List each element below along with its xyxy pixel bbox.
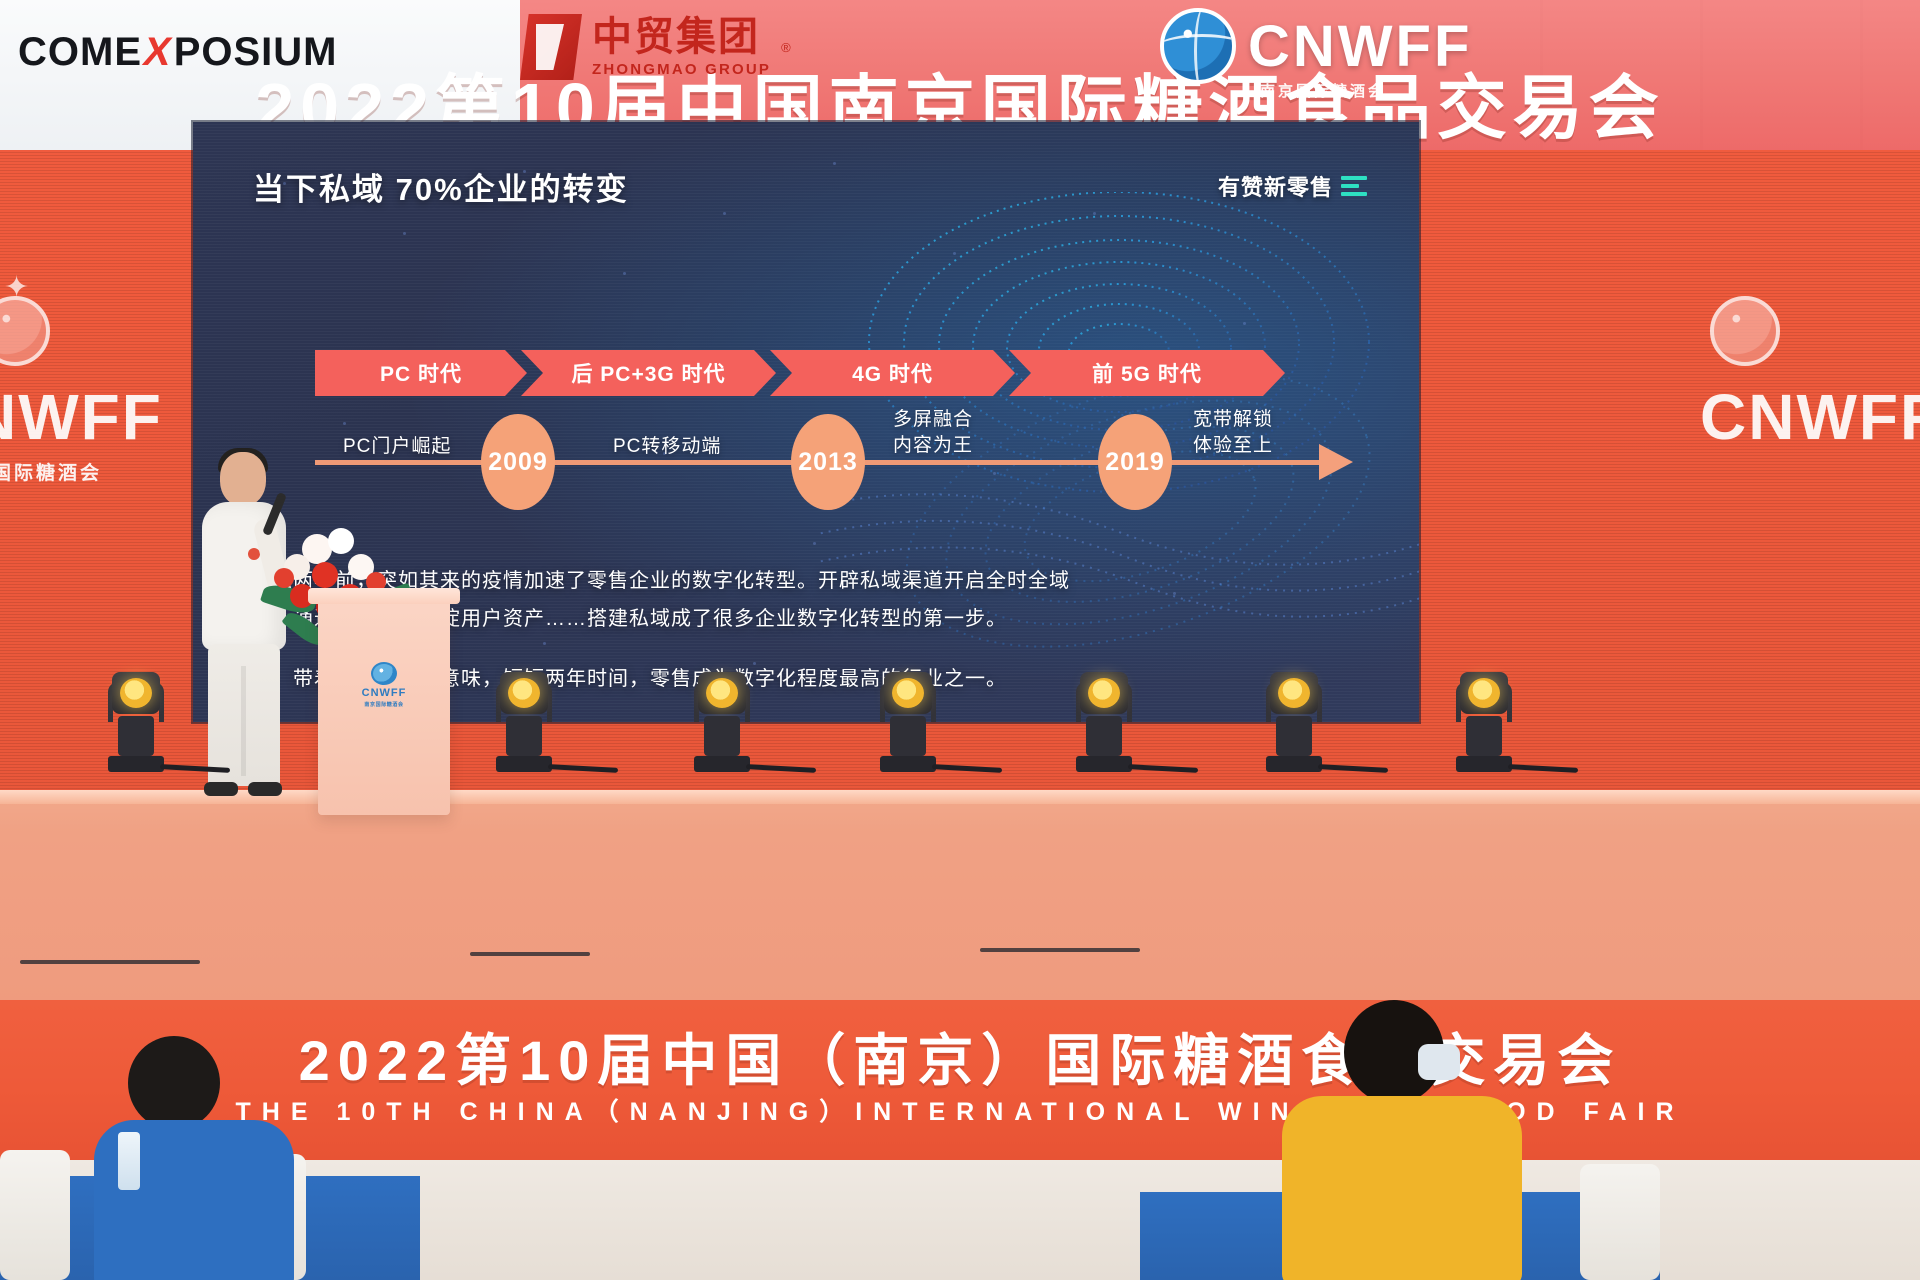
cnwff-logo-subtitle: 南京国际糖酒会 [1260,80,1386,101]
era-arrow-4: 前 5G 时代 [1009,350,1285,396]
timeline-caption-4-line-1: 宽带解锁 [1193,407,1273,433]
podium: CNWFF 南京国际糖酒会 [318,600,450,815]
era-arrow-2-label: 后 PC+3G 时代 [571,358,725,388]
slide-body-line-3: 带着一些被迫的意味，短短两年时间，零售成为数字化程度最高的行业之一。 [293,660,1353,698]
audience-chair-right [1580,1164,1660,1280]
light-lens-icon [120,678,152,708]
globe-icon [1160,8,1236,84]
brand-bars-icon [1341,176,1367,196]
audience-person-right [1282,1000,1512,1280]
comexposium-logo-text: COME [18,30,142,75]
timeline-era-arrows: PC 时代 后 PC+3G 时代 4G 时代 前 5G 时代 [315,350,1315,396]
slide-title: 当下私域 70%企业的转变 [253,164,629,209]
light-lens-icon-3 [706,678,738,708]
comexposium-logo-text-2: POSIUM [174,30,338,75]
cnwff-logo-top: CNWFF 南京国际糖酒会 [1160,8,1472,84]
stage-light-7 [1452,672,1516,784]
timeline-caption-1: PC门户崛起 [343,434,451,460]
timeline-year-2009: 2009 [481,414,555,510]
audience-right-mask [1418,1044,1460,1080]
light-lens-icon-7 [1468,678,1500,708]
podium-top [308,588,460,604]
timeline-caption-4-line-2: 体验至上 [1193,433,1273,459]
slide-body-text: 两年前，突如其来的疫情加速了零售企业的数字化转型。开辟私域渠道开启全时全域 通过… [293,562,1353,698]
zhongmao-mark-icon [520,14,582,80]
era-arrow-1: PC 时代 [315,350,527,396]
podium-badge: CNWFF 南京国际糖酒会 [348,662,420,708]
era-arrow-1-label: PC 时代 [380,358,462,388]
light-lens-icon-4 [892,678,924,708]
audience-right-torso [1282,1096,1522,1280]
stage-light-3 [690,672,754,784]
podium-badge-sub: 南京国际糖酒会 [364,701,403,708]
stage-floor [0,790,1920,1005]
speaker-head [220,452,266,506]
timeline-caption-3-line-1: 多屏融合 [893,407,973,433]
cnwff-watermark-right: CNWFF [1700,380,1920,454]
slide-brand-logo: 有赞新零售 [1218,170,1367,202]
light-lens-icon-2 [508,678,540,708]
podium-globe-icon [371,662,397,685]
floor-cable-3 [980,948,1140,952]
speaker-shoe-right [248,782,282,796]
timeline-year-2019: 2019 [1098,414,1172,510]
timeline-caption-1-line-1: PC门户崛起 [343,434,451,460]
era-arrow-3: 4G 时代 [770,350,1015,396]
timeline-caption-3: 多屏融合 内容为王 [893,407,973,459]
timeline-caption-4: 宽带解锁 体验至上 [1193,407,1273,459]
era-arrow-2: 后 PC+3G 时代 [521,350,776,396]
speaker-legs [208,644,280,786]
zhongmao-logo-cn: 中贸集团 [592,17,771,57]
timeline-axis-arrowhead-icon [1319,444,1353,480]
cnwff-watermark-left-sub: 京国际糖酒会 [0,458,163,485]
zhongmao-group-logo: 中贸集团 ZHONGMAO GROUP ® [520,14,791,80]
sparkle-icon: ✦ [4,270,29,305]
trademark-symbol: ® [781,40,791,55]
era-arrow-4-label: 前 5G 时代 [1092,358,1202,388]
timeline-caption-2: PC转移动端 [613,434,721,460]
cnwff-watermark-left-word: NWFF [0,380,163,454]
water-bottle [118,1132,140,1190]
era-arrow-3-label: 4G 时代 [852,358,933,388]
audience-chair-left [0,1150,70,1280]
cnwff-watermark-right-word: CNWFF [1700,380,1920,454]
audience-left-head [128,1036,220,1130]
stage-light-5 [1072,672,1136,784]
floor-cable-2 [470,952,590,956]
globe-icon-right [1710,296,1780,366]
floor-cable [20,960,200,964]
light-lens-icon-6 [1278,678,1310,708]
presentation-photo: 2022第10届中国南京国际糖酒食品交易会 COMEXPOSIUM 中贸集团 Z… [0,0,1920,1280]
comexposium-x-mark: X [139,30,176,75]
light-lens-icon-5 [1088,678,1120,708]
slide-brand-label: 有赞新零售 [1218,170,1333,202]
comexposium-logo: COMEXPOSIUM [18,30,337,75]
stage-light-6 [1262,672,1326,784]
timeline-caption-3-line-2: 内容为王 [893,433,973,459]
slide-body-line-2: 通过企业微信沉淀用户资产……搭建私域成了很多企业数字化转型的第一步。 [293,600,1353,638]
speaker-shoe-left [204,782,238,796]
zhongmao-logo-en: ZHONGMAO GROUP [592,62,771,77]
stage-light-2 [492,672,556,784]
timeline-year-2013: 2013 [791,414,865,510]
stage-light-4 [876,672,940,784]
cnwff-logo-word: CNWFF [1248,13,1472,80]
podium-badge-word: CNWFF [362,687,407,699]
stage-light-1 [104,672,168,784]
cnwff-watermark-left: ✦ NWFF 京国际糖酒会 [0,380,163,485]
timeline-caption-2-line-1: PC转移动端 [613,434,721,460]
